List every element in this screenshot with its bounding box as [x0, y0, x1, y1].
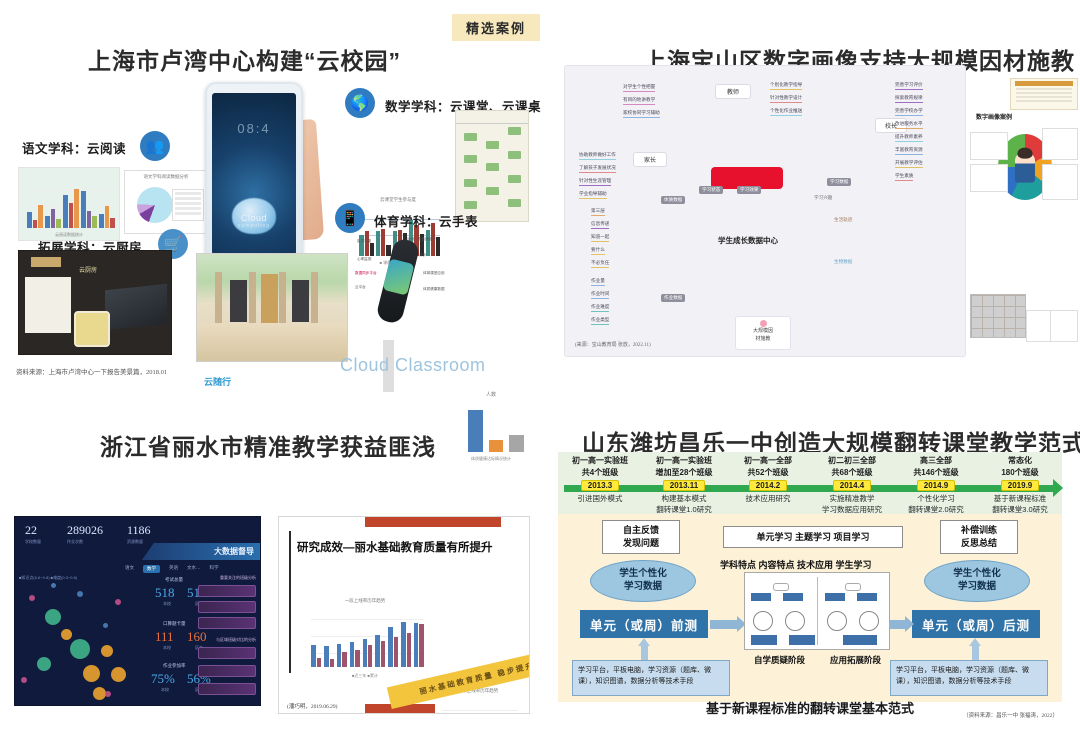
timeline-bottom: 实施精准教学学习数据应用研究 [810, 494, 894, 516]
flow-stage-left: 自学质疑阶段 [754, 654, 805, 666]
mindmap-leaf: 改进服务水平 [895, 121, 923, 129]
mindmap-leaf: 信息传递 [591, 221, 609, 229]
mindmap-leaf: 提升教师素养 [895, 134, 923, 142]
mindmap-leaf: 家校协同学习辅助 [623, 110, 660, 118]
slide-heading: 研究成效—丽水基础教育质量有所提升 [297, 539, 493, 555]
kpi-value-a: 111 [155, 629, 174, 645]
portrait-card [970, 132, 1008, 160]
mindmap-canvas: 教师 校长 家长 学生成长数据中心 对学生个性把握 有目的地讲教学 家校协同学习… [564, 65, 966, 357]
dash-number: 22 [25, 523, 37, 538]
kpi-value-a: 518 [155, 585, 175, 601]
flow-features: 学科特点 内容特点 技术应用 学生学习 [720, 558, 872, 571]
mindmap-leaf: 针对性生涯管理 [579, 178, 611, 186]
mindmap-leaf: 作业量 [591, 278, 605, 286]
panel-shanghai-luwan: 上海市卢湾中心构建“云校园” 👥 语文学科：云阅读 云阅读数据统计 语文学科阅读… [0, 0, 540, 400]
portrait-info-card [1010, 78, 1078, 110]
flow-left-box: 自主反馈发现问题 [602, 520, 680, 554]
smartwatch-photo: 定位功能 运动、语音通话等 心率监测 计步 数据同步平台 体育课堂应用 云平台 … [355, 235, 451, 327]
timeline-bottom: 基于新课程标准翻转课堂3.0研究 [978, 494, 1062, 516]
student-photo-grid [970, 294, 1026, 338]
subject-label-pe: 体育学科：云手表 [374, 211, 478, 230]
chart-legend: ■近三年 ■累计 [301, 673, 429, 679]
flow-center-box: 单元学习 主题学习 项目学习 [723, 526, 903, 548]
tablet-device: 08:4 Cloud computing [205, 82, 303, 271]
chart-first-tier: 一段上线率历年趋势 ■近三年 ■累计 [301, 595, 429, 681]
mindmap-mid-node: 体质数据 [661, 196, 685, 204]
mindmap-leaf: 学业指导辅助 [579, 191, 607, 199]
mindmap-mid-node: 学习状态 [699, 186, 723, 194]
people-icon: 👥 [140, 131, 170, 161]
timeline-year: 2014.4 [833, 480, 871, 491]
flow-left-ellipse: 学生个性化学习数据 [590, 560, 696, 602]
mindmap-leaf: 不必负任 [591, 260, 609, 268]
mindmap-leaf: 完善学校办学 [895, 108, 923, 116]
slide-canvas: 精选案例 上海市卢湾中心构建“云校园” 👥 语文学科：云阅读 云阅读数据统计 语… [0, 0, 1080, 733]
dash-button[interactable] [198, 665, 256, 677]
dash-tabs[interactable]: 语文 数学 英语 文水… 科学 [125, 565, 219, 573]
mindmap-leaf: 了解孩子发展状况 [579, 165, 616, 173]
mindmap-node-parent: 家长 [633, 152, 667, 167]
timeline-top: 初一高一实验班共4个班级 [558, 452, 642, 478]
portrait-card [970, 164, 1008, 192]
dash-tab[interactable]: 科学 [210, 565, 219, 573]
dash-number-label: 作业次数 [67, 539, 83, 545]
school-lobby-photo [196, 253, 348, 362]
digital-portrait-title: 数字画像案例 [976, 112, 1012, 121]
dash-button[interactable] [198, 617, 256, 629]
dash-number-label: 学校数量 [25, 539, 41, 545]
flow-arrow-right-1 [710, 620, 738, 629]
panel-lishui-precision-teaching: 浙江省丽水市精准教学获益匪浅 22 学校数量 289026 作业次数 1186 … [0, 400, 540, 733]
portrait-card [1050, 310, 1078, 342]
chart-chinese-pie: 语文学科阅读数据分析 [124, 170, 208, 234]
panel3-title: 浙江省丽水市精准教学获益匪浅 [100, 428, 436, 462]
mindmap-leaf: 个性化作业推送 [770, 108, 802, 116]
mindmap-leaf: 探索教育规律 [895, 95, 923, 103]
portrait-card [1042, 164, 1078, 200]
dash-number: 289026 [67, 523, 103, 538]
dash-ribbon: 大数据督导 [142, 543, 260, 560]
kpi-label-a: 本校 [163, 645, 171, 651]
flow-left-bar: 单元（或周）前测 [580, 610, 708, 638]
kpi-label-a: 本校 [161, 687, 169, 693]
timeline-year: 2013.3 [581, 480, 619, 491]
timeline-top: 初一高一全部共52个班级 [726, 452, 810, 478]
digital-portrait-figure: 数字画像案例 [970, 72, 1078, 352]
mindmap-mid-node: 作业数据 [661, 294, 685, 302]
mindmap-leaf: 学生素质 [895, 173, 913, 181]
dash-group-title: 重要关注的班级分析 [220, 575, 256, 581]
flow-right-bar: 单元（或周）后测 [912, 610, 1040, 638]
dash-button[interactable] [198, 647, 256, 659]
kpi-title: 作业参加率 [163, 663, 186, 669]
mindmap-source: (来源：宝山教育局 张放，2022.11) [575, 341, 651, 348]
mindmap-leaf: 要什么 [591, 247, 605, 255]
mindmap-leaf: 有目的地讲教学 [623, 97, 655, 105]
chart-left-title: 一段上线率历年趋势 [301, 598, 429, 604]
cloud-kitchen-photo: 云厨房 [18, 250, 172, 355]
kpi-title: 口算题卡量 [163, 621, 186, 627]
flow-diagram: 自主反馈发现问题 单元学习 主题学习 项目学习 补偿训练反思总结 学科特点 内容… [558, 514, 1062, 702]
lishui-dashboard: 22 学校数量 289026 作业次数 1186 资源数量 大数据督导 语文 数… [14, 516, 261, 706]
kpi-label-a: 本校 [163, 601, 171, 607]
panel4-source: （资料来源：昌乐一中 张福涛，2022） [963, 711, 1058, 719]
flow-tech-right: 学习平台，平板电脑，学习资源（题库、微课），知识图谱，数据分析等技术手段 [890, 660, 1048, 696]
dash-number: 1186 [127, 523, 151, 538]
mindmap-node-teacher: 教师 [715, 84, 751, 99]
mindmap-leaf: 作业类型 [591, 317, 609, 325]
timeline-top: 高三全部共146个班级 [894, 452, 978, 478]
phone-icon: 📱 [335, 203, 365, 233]
mindmap-mid-node: 生物数据 [831, 258, 855, 266]
timeline-year: 2014.2 [749, 480, 787, 491]
chart-cloud-desk-table [455, 110, 529, 222]
flow-stage-right: 应用拓展阶段 [830, 654, 881, 666]
dash-tab[interactable]: 文水… [187, 565, 201, 573]
dash-tab[interactable]: 英语 [169, 565, 178, 573]
timeline-year: 2014.9 [917, 480, 955, 491]
mindmap-bottom-note: 大规模因材施教 [735, 316, 791, 350]
cloud-classroom-label: Cloud Classroom [340, 355, 486, 376]
mindmap-mid-node: 生活轨迹 [831, 216, 855, 224]
dash-number-label: 资源数量 [127, 539, 143, 545]
mindmap-leaf: 协助教师做好工作 [579, 152, 616, 160]
kpi-title: 考试总量 [165, 577, 183, 583]
timeline-bottom: 构建基本模式翻转课堂1.0研究 [642, 494, 726, 516]
slide-source: (潘巧明，2019.06.29) [287, 702, 337, 710]
portrait-card [1042, 128, 1078, 160]
mindmap-leaf: 完善学习评价 [895, 82, 923, 90]
dash-group-title: 与区域班级对比的分析 [216, 637, 256, 643]
mindmap-leaf: 作业时间 [591, 291, 609, 299]
flow-right-ellipse: 学生个性化学习数据 [924, 560, 1030, 602]
mindmap-leaf: 作业难度 [591, 304, 609, 312]
mindmap-leaf: 开展教学评估 [895, 160, 923, 168]
timeline: 初一高一实验班共4个班级 初一高一实验班增加至28个班级 初一高一全部共52个班… [558, 452, 1062, 514]
dash-ribbon-label: 大数据督导 [214, 546, 254, 557]
dash-button[interactable] [198, 585, 256, 597]
panel-baoshan-digital-portrait: 上海宝山区数字画像支持大规模因材施教 教师 校长 家长 学生成长数据中心 对学生… [540, 0, 1080, 400]
mindmap-mid-node: 学习效果 [737, 186, 761, 194]
tablet-time: 08:4 [212, 121, 296, 136]
timeline-bottom: 技术应用研究 [726, 494, 810, 516]
tablet-brand: Cloud [241, 213, 267, 223]
cloud-walk-label: 云随行 [204, 375, 231, 388]
timeline-years: 2013.3 2013.11 2014.2 2014.4 2014.9 2019… [558, 480, 1062, 491]
panel-changle-flipped-classroom: 山东潍坊昌乐一中创造大规模翻转课堂教学范式 初一高一实验班共4个班级 初一高一实… [540, 400, 1080, 733]
flow-up-arrow-left [638, 638, 651, 660]
dash-tab[interactable]: 语文 [125, 565, 134, 573]
timeline-bottom: 个性化学习翻转课堂2.0研究 [894, 494, 978, 516]
mindmap-mid-node: 学习数据 [827, 178, 851, 186]
mindmap-leaf: 知道一起 [591, 234, 609, 242]
flow-right-box: 补偿训练反思总结 [940, 520, 1018, 554]
mindmap-center-label: 学生成长数据中心 [705, 232, 791, 248]
mindmap-leaf: 针对性教学设计 [770, 95, 802, 103]
mindmap-leaf: 第三层 [591, 208, 605, 216]
globe-icon: 🌎 [345, 88, 375, 118]
timeline-year: 2013.11 [663, 480, 705, 491]
timeline-top: 常态化180个班级 [978, 452, 1062, 478]
dash-button[interactable] [198, 683, 256, 695]
timeline-top: 初一高一实验班增加至28个班级 [642, 452, 726, 478]
flow-tech-left: 学习平台，平板电脑，学习资源（题库、微课），知识图谱，数据分析等技术手段 [572, 660, 730, 696]
mindmap-leaf: 对学生个性把握 [623, 84, 655, 92]
panel1-source: 资料来源：上海市卢湾中心一下报告美景篇，2018.01 [16, 366, 167, 376]
kpi-value-b: 160 [187, 629, 207, 645]
timeline-bottom: 引进国外模式 [558, 494, 642, 516]
mindmap-leaf: 个别化教学指导 [770, 82, 802, 90]
lishui-slide: 研究成效—丽水基础教育质量有所提升 一段上线率历年趋势 ■近三年 ■累计 [278, 516, 530, 714]
flow-up-arrow-right [969, 638, 982, 660]
tablet-sub: computing [212, 223, 296, 229]
kpi-value-a: 75% [151, 671, 175, 687]
flow-inner-diagram [744, 572, 890, 650]
subject-label-chinese: 语文学科：云阅读 [22, 138, 126, 157]
mindmap-mid-node: 学习兴趣 [811, 194, 835, 202]
timeline-bottom-row: 引进国外模式 构建基本模式翻转课堂1.0研究 技术应用研究 实施精准教学学习数据… [558, 494, 1062, 516]
timeline-year: 2019.9 [1001, 480, 1039, 491]
mindmap-leaf: 丰富教育资源 [895, 147, 923, 155]
dash-button[interactable] [198, 601, 256, 613]
timeline-top: 初二初三全部共68个班级 [810, 452, 894, 478]
chart-chinese-bars: 云阅读数据统计 [18, 167, 120, 241]
panel1-title: 上海市卢湾中心构建“云校园” [88, 42, 401, 76]
timeline-top-row: 初一高一实验班共4个班级 初一高一实验班增加至28个班级 初一高一全部共52个班… [558, 452, 1062, 478]
dash-tab-active[interactable]: 数学 [143, 565, 160, 573]
